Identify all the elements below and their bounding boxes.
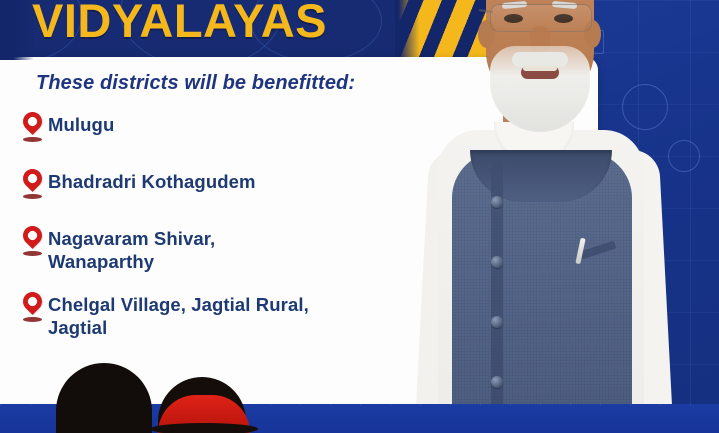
district-label: Nagavaram Shivar, Wanaparthy <box>48 226 215 273</box>
location-pin-icon <box>18 292 48 330</box>
vest-button <box>491 316 503 328</box>
district-list: Mulugu Bhadradri Kothagudem Nagavaram Sh… <box>18 112 438 339</box>
vest-button <box>491 256 503 268</box>
list-item: Nagavaram Shivar, Wanaparthy <box>18 226 438 273</box>
list-item: Bhadradri Kothagudem <box>18 169 438 207</box>
teeth <box>523 66 557 71</box>
mustache <box>512 52 568 67</box>
district-label: Chelgal Village, Jagtial Rural, Jagtial <box>48 292 309 339</box>
list-item: Mulugu <box>18 112 438 150</box>
title-left-fade <box>0 0 34 60</box>
location-pin-icon <box>18 226 48 264</box>
head <box>486 0 594 102</box>
vest-button <box>491 196 503 208</box>
student-silhouette <box>56 363 152 433</box>
location-pin-icon <box>18 112 48 150</box>
politician-portrait <box>408 0 719 433</box>
vest-button <box>491 376 503 388</box>
list-item: Chelgal Village, Jagtial Rural, Jagtial <box>18 292 438 339</box>
district-label: Bhadradri Kothagudem <box>48 169 256 193</box>
poster: VIDYALAYAS These districts will be benef… <box>0 0 719 433</box>
district-label: Mulugu <box>48 112 114 136</box>
location-pin-icon <box>18 169 48 207</box>
page-title: VIDYALAYAS <box>32 0 327 51</box>
red-cap-brim <box>150 423 258 433</box>
card-subtitle: These districts will be benefitted: <box>36 72 355 95</box>
